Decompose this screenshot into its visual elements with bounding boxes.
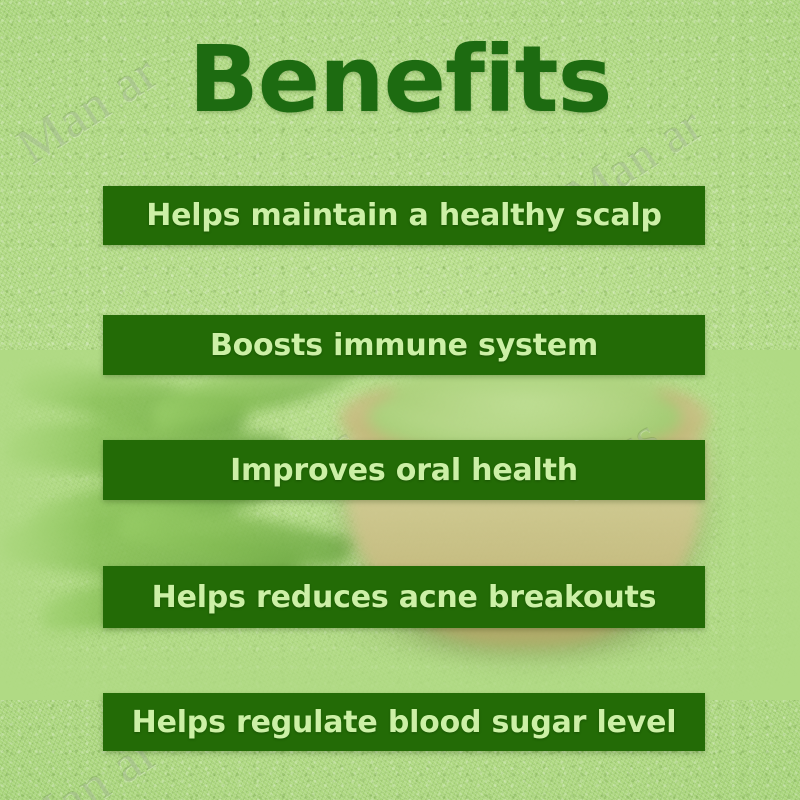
benefit-bar: Helps reduces acne breakouts (103, 566, 705, 628)
benefit-label: Helps maintain a healthy scalp (146, 198, 662, 233)
benefit-bar: Helps maintain a healthy scalp (103, 186, 705, 245)
benefit-bar: Improves oral health (103, 440, 705, 500)
benefit-label: Improves oral health (230, 453, 578, 488)
benefit-label: Helps reduces acne breakouts (152, 580, 657, 615)
benefit-bar: Helps regulate blood sugar level (103, 693, 705, 751)
benefit-bar: Boosts immune system (103, 315, 705, 375)
benefits-poster: Man ar Man ar anics Man ar nics Benefits… (0, 0, 800, 800)
benefits-list: Helps maintain a healthy scalp Boosts im… (0, 0, 800, 800)
benefit-label: Helps regulate blood sugar level (132, 705, 677, 740)
benefit-label: Boosts immune system (210, 328, 598, 363)
